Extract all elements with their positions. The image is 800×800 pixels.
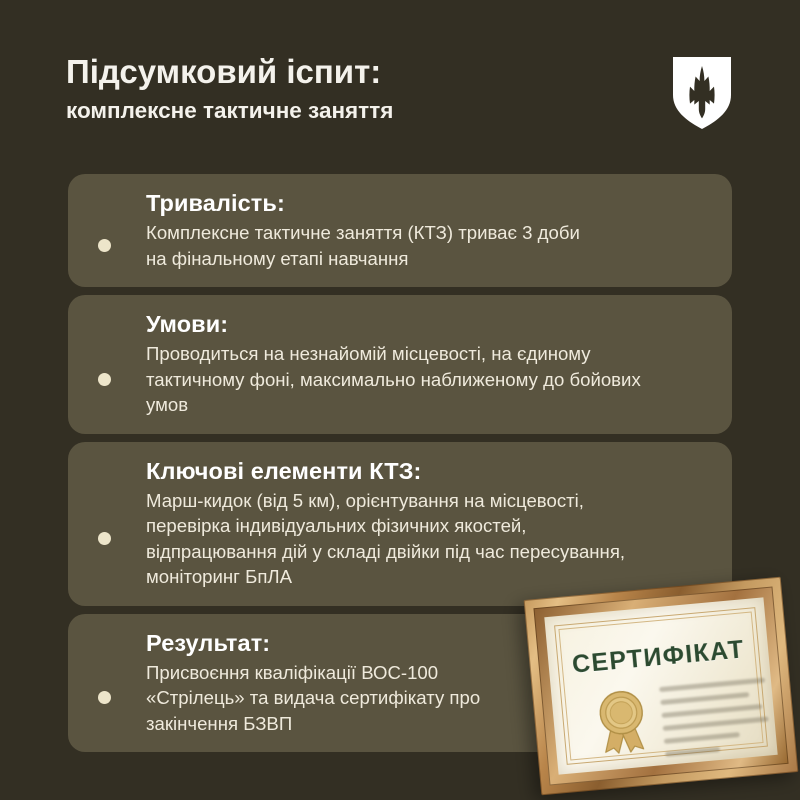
page-header: Підсумковий іспит: комплексне тактичне з… [0,0,800,160]
card-duration-text-line-1: Комплексне тактичне заняття (КТЗ) триває… [146,220,708,246]
certificate-text-line [660,692,749,705]
certificate-text-line [663,716,769,731]
card-key-elements-text-line-1: Марш-кидок (від 5 км), орієнтування на м… [146,488,708,514]
certificate-photo: СЕРТИФІКАТ [524,577,799,796]
ukraine-mod-trident-shield-emblem [673,57,731,129]
card-conditions-text: Проводиться на незнайомій місцевості, на… [146,341,708,418]
award-rosette-icon [593,686,651,756]
certificate-corner-ornament [738,607,756,625]
certificate-body-text-placeholder [659,678,772,765]
page-title-line-2: комплексне тактичне заняття [66,96,626,126]
card-key-elements-text-line-2: перевірка індивідуальних фізичних якосте… [146,513,708,539]
card-key-elements: Ключові елементи КТЗ: Марш-кидок (від 5 … [68,442,732,606]
bullet-cell [92,691,146,704]
card-key-elements-text: Марш-кидок (від 5 км), орієнтування на м… [146,488,708,590]
card-conditions-body: Проводиться на незнайомій місцевості, на… [92,341,708,418]
certificate-text-line [664,732,740,744]
card-conditions-text-line-3: умов [146,392,708,418]
bullet-dot-icon [98,373,111,386]
card-conditions-text-line-1: Проводиться на незнайомій місцевості, на… [146,341,708,367]
bullet-cell [92,373,146,386]
certificate-paper: СЕРТИФІКАТ [544,597,777,774]
card-conditions: Умови: Проводиться на незнайомій місцево… [68,295,732,434]
card-duration-text: Комплексне тактичне заняття (КТЗ) триває… [146,220,708,271]
bullet-dot-icon [98,239,111,252]
bullet-dot-icon [98,691,111,704]
card-duration-body: Комплексне тактичне заняття (КТЗ) триває… [92,220,708,271]
card-conditions-heading: Умови: [146,309,708,339]
page-title: Підсумковий іспит: комплексне тактичне з… [66,52,626,126]
page-title-line-1: Підсумковий іспит: [66,52,626,92]
bullet-dot-icon [98,532,111,545]
certificate-text-line [665,747,720,757]
card-conditions-text-line-2: тактичному фоні, максимально наближеному… [146,367,708,393]
card-duration: Тривалість: Комплексне тактичне заняття … [68,174,732,287]
card-key-elements-text-line-4: моніторинг БпЛА [146,564,708,590]
card-duration-heading: Тривалість: [146,188,708,218]
certificate-text-line [661,704,762,718]
card-key-elements-body: Марш-кидок (від 5 км), орієнтування на м… [92,488,708,590]
card-duration-text-line-2: на фінальному етапі навчання [146,246,708,272]
certificate-corner-ornament [565,746,583,764]
card-key-elements-text-line-3: відпрацювання дій у складі двійки під ча… [146,539,708,565]
bullet-cell [92,239,146,252]
bullet-cell [92,532,146,545]
card-key-elements-heading: Ключові елементи КТЗ: [146,456,708,486]
certificate-corner-ornament [554,624,572,642]
